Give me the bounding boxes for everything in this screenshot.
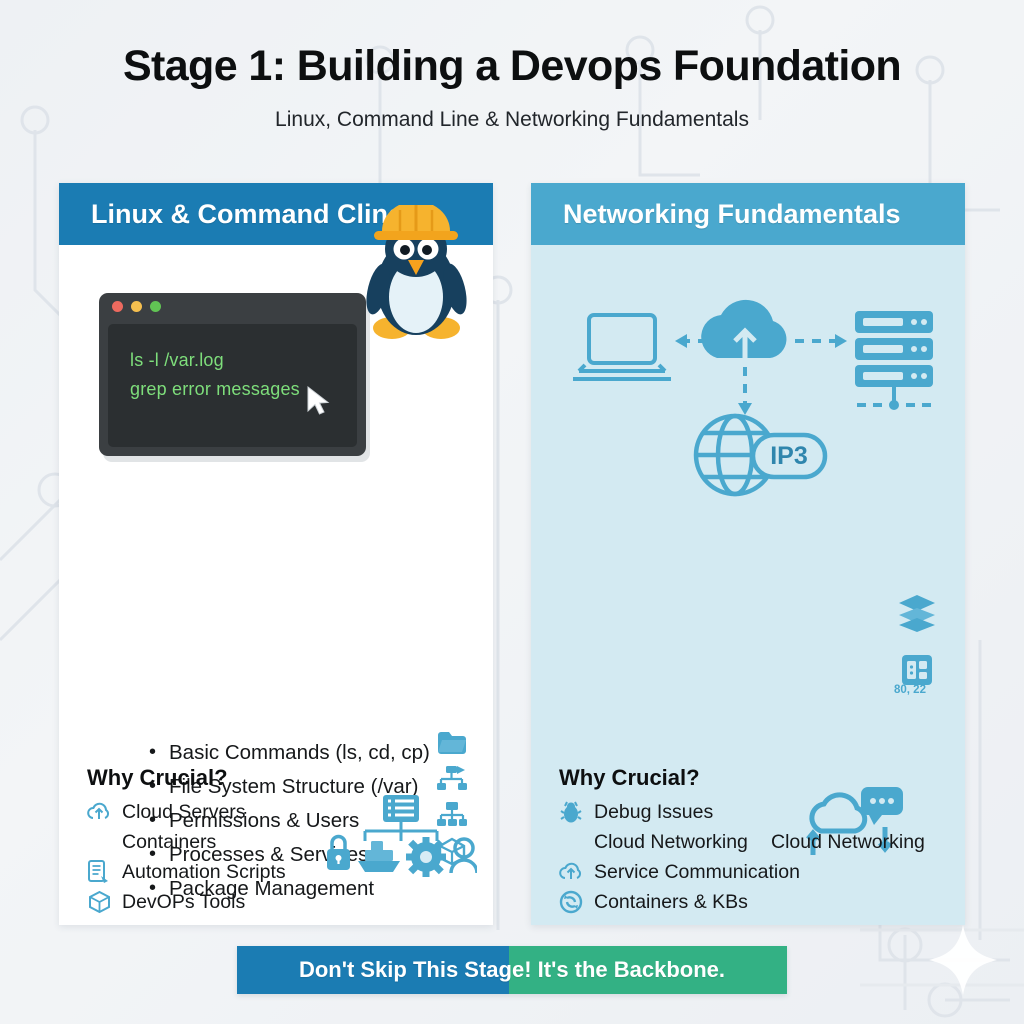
bottom-banner: Don't Skip This Stage! It's the Backbone… xyxy=(237,946,787,994)
sparkle-icon xyxy=(928,924,998,996)
list-item-label: DevOPs Tools xyxy=(122,891,245,914)
banner-text: Don't Skip This Stage! It's the Backbone… xyxy=(299,957,725,983)
laptop-icon xyxy=(573,315,671,379)
cube-icon xyxy=(87,890,111,914)
user-icon xyxy=(451,839,477,873)
terminal-window[interactable]: ls -l /var.log grep error messages xyxy=(99,293,366,456)
terminal-body: ls -l /var.log grep error messages xyxy=(108,324,357,447)
lock-icon xyxy=(327,837,350,871)
list-item-label: Automation Scripts xyxy=(122,861,286,884)
layers-stack-icon xyxy=(897,593,937,633)
ship-docker-icon xyxy=(358,841,400,872)
list-item: Containers & KBs xyxy=(559,887,800,917)
gear-icon xyxy=(406,837,446,877)
server-rack-icon xyxy=(855,311,933,410)
linux-penguin-icon xyxy=(364,205,469,355)
list-item: Automation Scripts xyxy=(87,857,286,887)
list-item: Cloud Servers xyxy=(87,797,286,827)
list-item-label: Containers & KBs xyxy=(594,891,748,914)
page-title: Stage 1: Building a Devops Foundation xyxy=(0,42,1024,91)
list-item: Cloud Networking xyxy=(559,827,800,857)
maximize-dot-icon[interactable] xyxy=(150,301,161,312)
right-bullet-icon-column xyxy=(897,593,937,687)
hierarchy-arrow-icon xyxy=(437,765,467,791)
list-item-label: Debug Issues xyxy=(594,801,713,824)
network-diagram: IP3 xyxy=(567,283,937,503)
right-why-crucial-title: Why Crucial? xyxy=(559,765,700,791)
mouse-cursor-icon xyxy=(305,385,331,417)
list-item: DevOPs Tools xyxy=(87,887,286,917)
arrow-right xyxy=(835,334,847,348)
left-why-crucial-title: Why Crucial? xyxy=(87,765,228,791)
cloud-icon xyxy=(701,300,786,361)
arrow-down xyxy=(738,403,752,415)
panel-right-header: Networking Fundamentals xyxy=(531,183,965,245)
list-item-label: Service Communication xyxy=(594,861,800,884)
panel-linux-command-line: Linux & Command Cline ls -l /var.log gre… xyxy=(59,183,493,925)
terminal-titlebar xyxy=(99,293,366,320)
list-item-label: Cloud Networking xyxy=(594,831,748,854)
folder-icon xyxy=(437,731,467,755)
arrow-left xyxy=(675,334,687,348)
list-item: Debug Issues xyxy=(559,797,800,827)
list-item-label: Containers xyxy=(122,831,216,854)
left-why-icon-cluster xyxy=(325,793,477,878)
left-why-crucial-list: Cloud Servers Containers Automation Scri… xyxy=(87,797,286,917)
list-item: Containers xyxy=(87,827,286,857)
panel-networking-fundamentals: Networking Fundamentals xyxy=(531,183,965,925)
cloud-upload-icon xyxy=(559,860,583,884)
page-subtitle: Linux, Command Line & Networking Fundame… xyxy=(0,108,1024,132)
list-item-label: Cloud Servers xyxy=(122,801,246,824)
script-document-icon xyxy=(87,860,111,884)
ip-badge-label: IP3 xyxy=(770,442,808,470)
cloud-networking-caption: Cloud Networking xyxy=(771,831,925,854)
close-dot-icon[interactable] xyxy=(112,301,123,312)
panel-right-title: Networking Fundamentals xyxy=(531,199,901,230)
firewall-building-icon xyxy=(900,653,934,687)
cloud-upload-icon xyxy=(87,800,111,824)
server-tree-icon xyxy=(365,795,437,841)
right-why-crucial-list: Debug Issues Cloud Networking Service Co… xyxy=(559,797,800,917)
minimize-dot-icon[interactable] xyxy=(131,301,142,312)
port-label: 80, 22 xyxy=(894,684,926,696)
panel-left-title: Linux & Command Cline xyxy=(59,199,403,230)
bug-icon xyxy=(559,800,583,824)
terminal-line-1: ls -l /var.log xyxy=(130,346,357,375)
list-item: Service Communication xyxy=(559,857,800,887)
ip-badge: IP3 xyxy=(753,435,825,477)
refresh-circle-icon xyxy=(559,890,583,914)
